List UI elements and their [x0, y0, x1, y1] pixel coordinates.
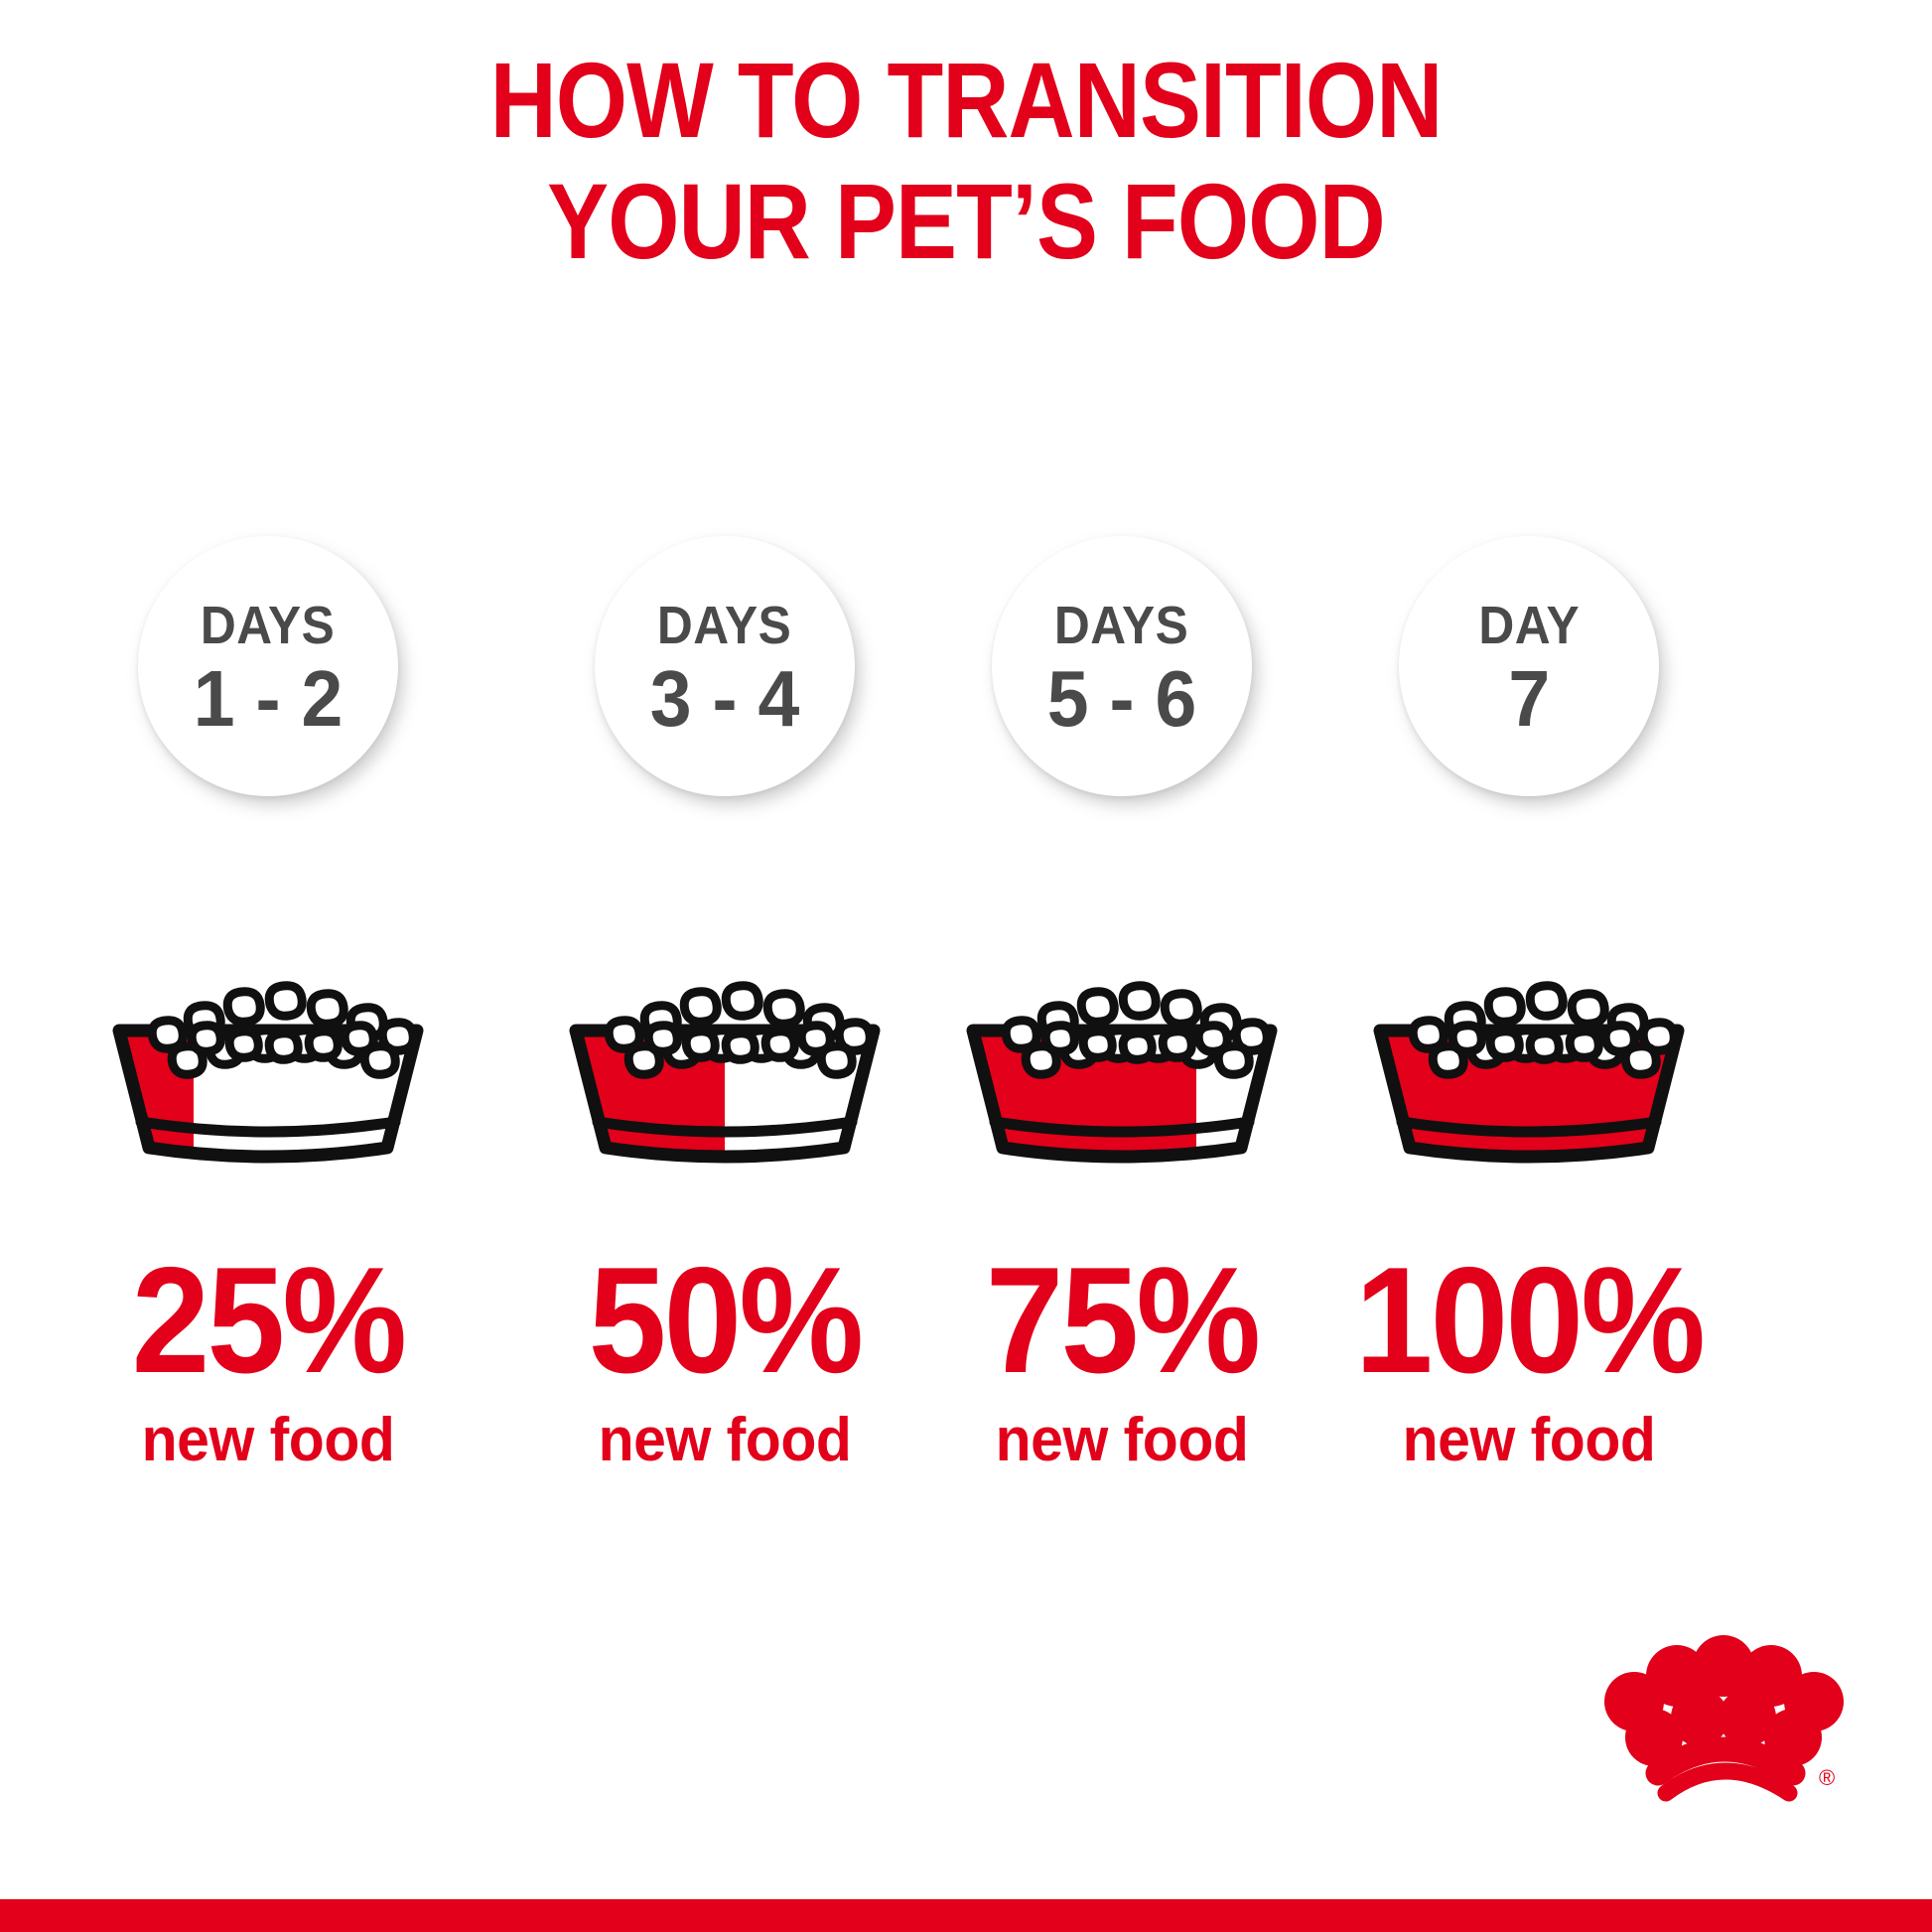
day-badge-number-4: 7 — [1508, 657, 1550, 741]
day-badge-number-1: 1 - 2 — [194, 657, 343, 741]
percent-value-1: 25% — [74, 1241, 463, 1400]
day-badge-label-2: DAYS — [657, 598, 791, 653]
day-badge-1: DAYS 1 - 2 — [138, 536, 398, 796]
infographic-canvas: HOW TO TRANSITION YOUR PET’S FOOD DAYS 1… — [0, 0, 1932, 1932]
day-badge-label-4: DAY — [1478, 598, 1580, 653]
day-badge-number-2: 3 - 4 — [650, 657, 799, 741]
food-bowl-illustration-4 — [1350, 953, 1708, 1191]
food-bowl-illustration-2 — [546, 953, 903, 1191]
day-badge-4: DAY 7 — [1399, 536, 1659, 796]
percent-block-2: 50% new food — [516, 1241, 933, 1475]
badge-wrap-4: DAY 7 — [1320, 536, 1737, 796]
day-badge-label-1: DAYS — [201, 598, 335, 653]
percent-value-2: 50% — [531, 1241, 919, 1400]
day-badge-label-3: DAYS — [1054, 598, 1188, 653]
percent-caption-1: new food — [70, 1406, 467, 1475]
step-column-3: DAYS 5 - 6 — [913, 0, 1330, 1932]
badge-wrap-3: DAYS 5 - 6 — [913, 536, 1330, 796]
badge-wrap-1: DAYS 1 - 2 — [60, 536, 477, 796]
percent-caption-3: new food — [924, 1406, 1320, 1475]
food-bowl-illustration-1 — [89, 953, 447, 1191]
footer-red-bar — [0, 1899, 1932, 1932]
bowl-wrap-2 — [516, 953, 933, 1191]
percent-block-1: 25% new food — [60, 1241, 477, 1475]
percent-block-4: 100% new food — [1320, 1241, 1737, 1475]
badge-wrap-2: DAYS 3 - 4 — [516, 536, 933, 796]
percent-caption-2: new food — [527, 1406, 923, 1475]
percent-value-3: 75% — [928, 1241, 1316, 1400]
bowl-wrap-4 — [1320, 953, 1737, 1191]
percent-block-3: 75% new food — [913, 1241, 1330, 1475]
day-badge-number-3: 5 - 6 — [1047, 657, 1196, 741]
royal-canin-crown-logo: ® — [1563, 1614, 1861, 1823]
bowl-wrap-3 — [913, 953, 1330, 1191]
bowl-wrap-1 — [60, 953, 477, 1191]
percent-value-4: 100% — [1335, 1241, 1724, 1400]
food-bowl-illustration-3 — [943, 953, 1301, 1191]
step-column-1: DAYS 1 - 2 — [60, 0, 477, 1932]
percent-caption-4: new food — [1331, 1406, 1727, 1475]
step-column-2: DAYS 3 - 4 — [516, 0, 933, 1932]
registered-trademark-mark: ® — [1819, 1765, 1835, 1790]
day-badge-3: DAYS 5 - 6 — [992, 536, 1252, 796]
crown-icon: ® — [1563, 1614, 1861, 1823]
day-badge-2: DAYS 3 - 4 — [595, 536, 855, 796]
